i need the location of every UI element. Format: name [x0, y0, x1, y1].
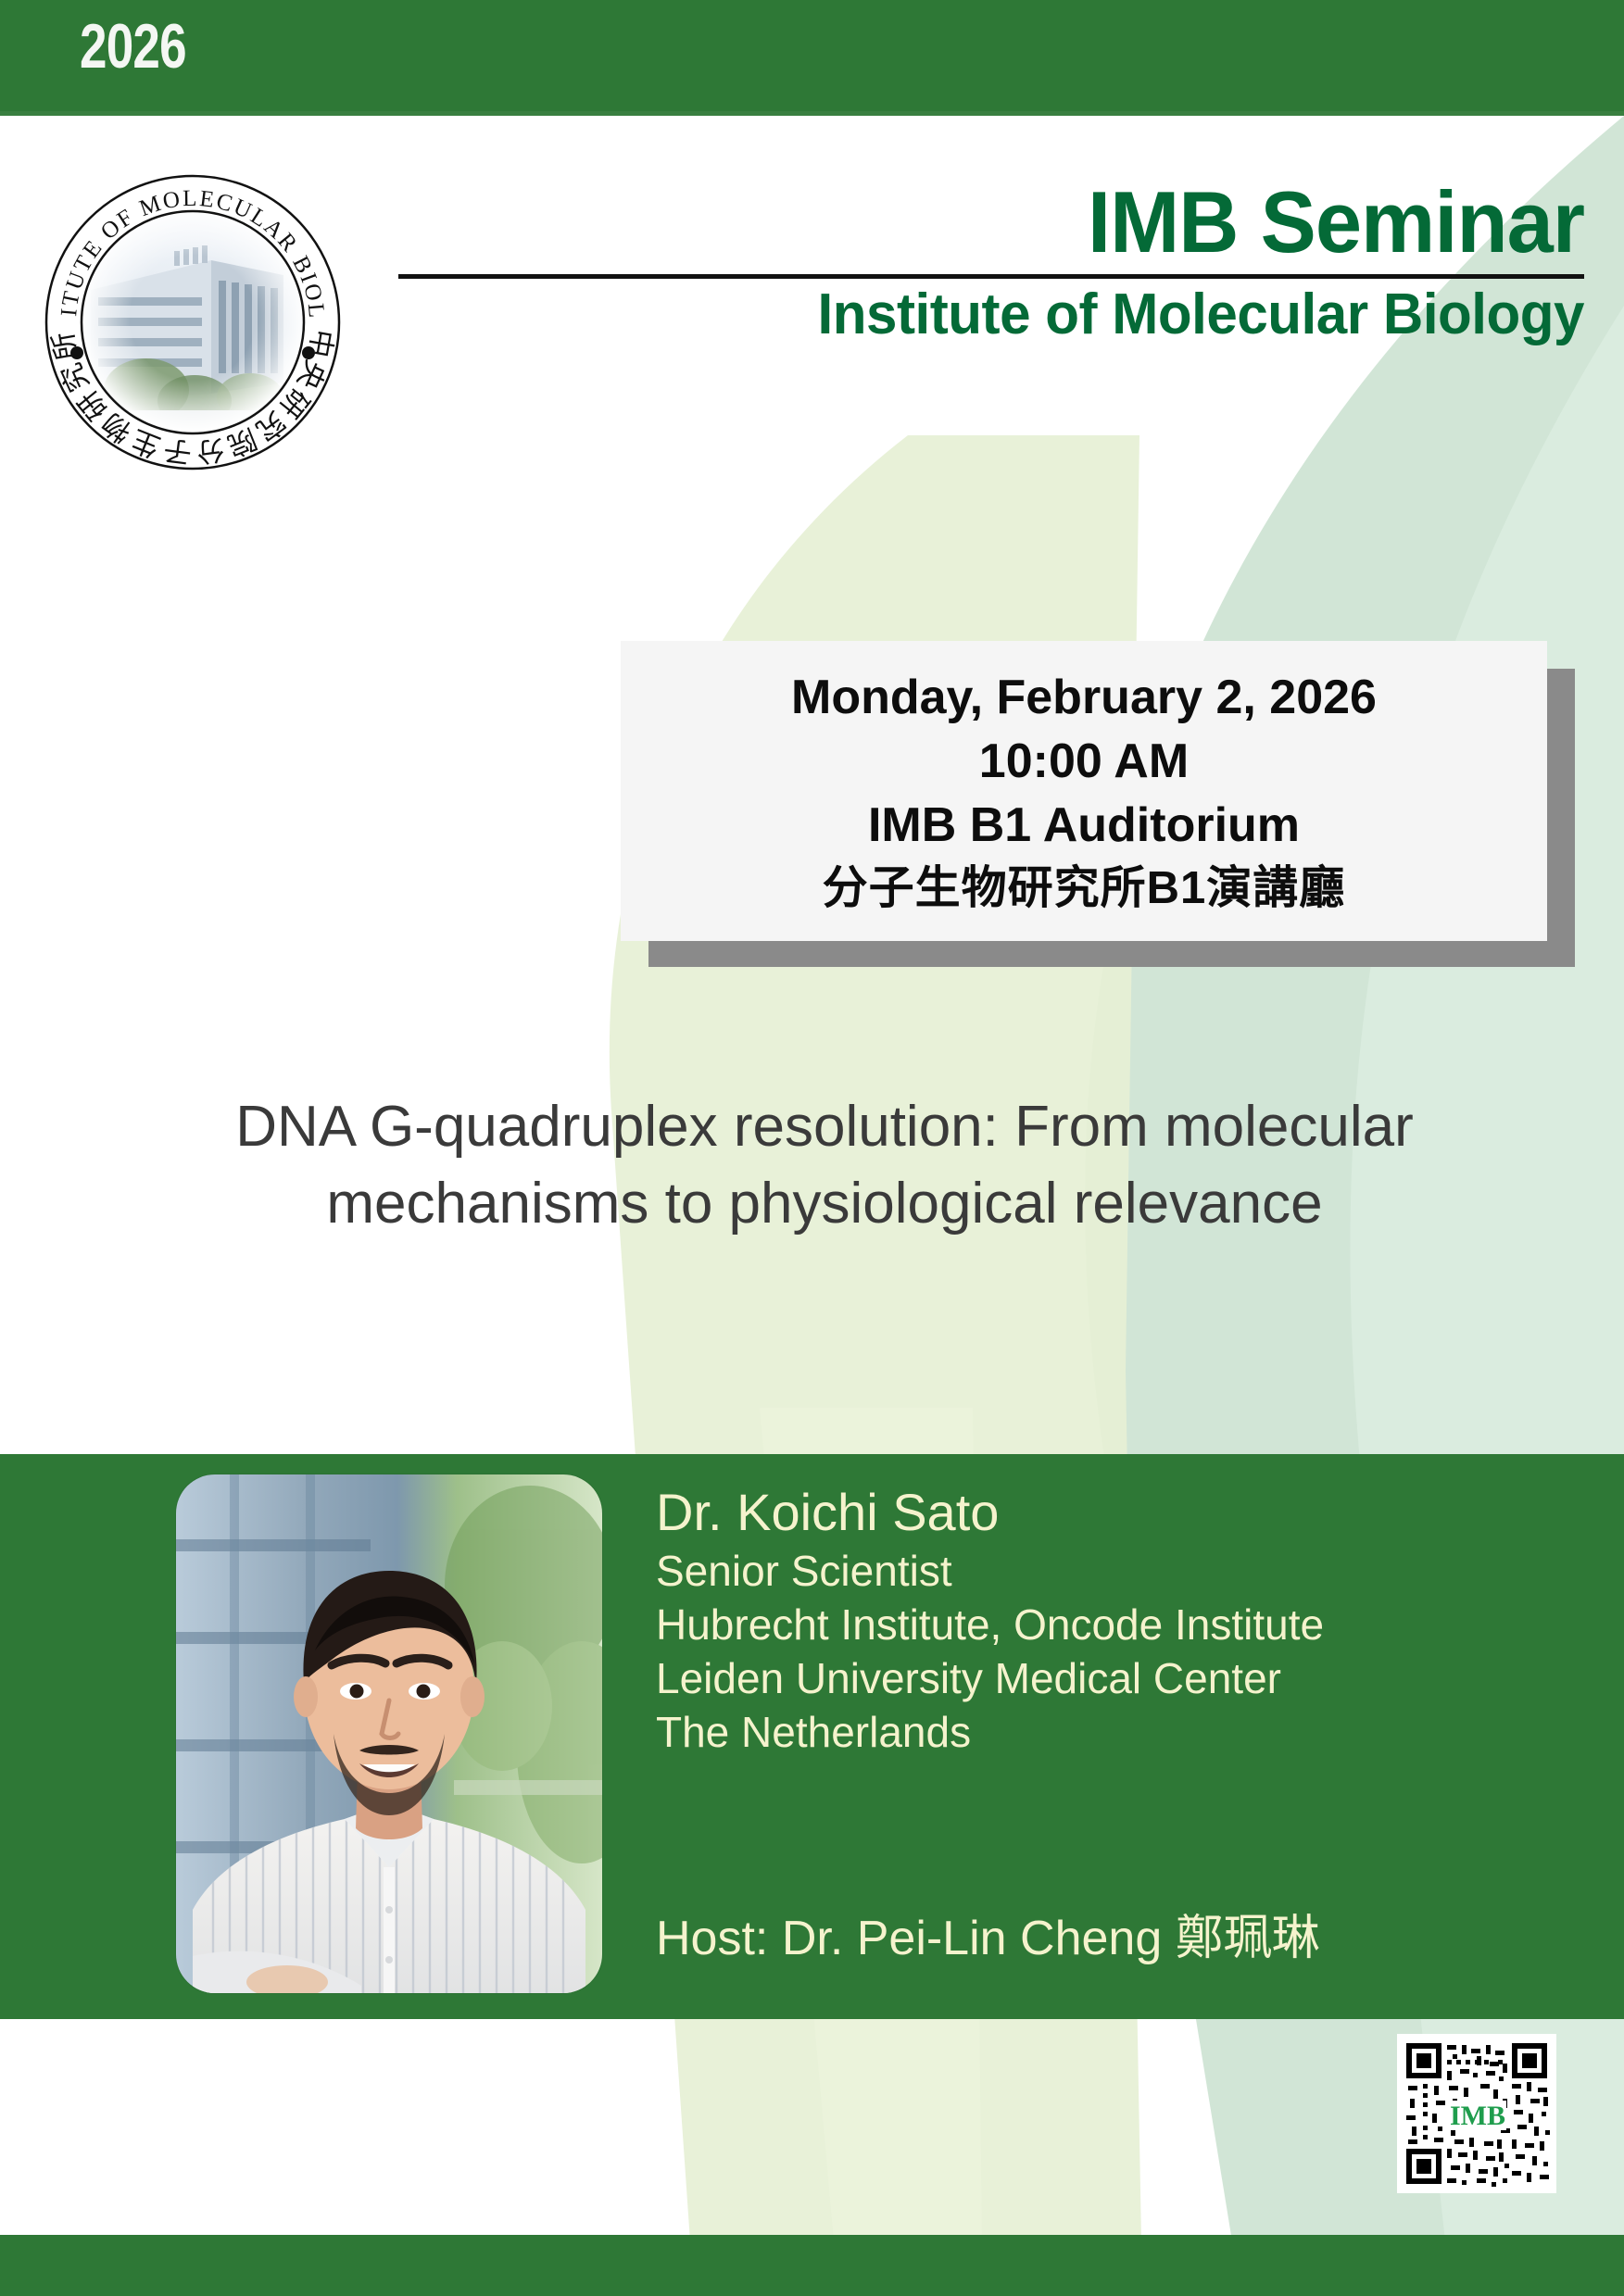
- seal-building-photo: [83, 213, 302, 433]
- header-block: IMB Seminar Institute of Molecular Biolo…: [398, 176, 1584, 346]
- speaker-photo: [176, 1474, 602, 1993]
- speaker-country: The Netherlands: [656, 1706, 1582, 1760]
- year-label: 2026: [80, 15, 186, 78]
- page-title: IMB Seminar: [446, 176, 1584, 269]
- bottom-green-bar: [0, 2239, 1624, 2296]
- institute-logo: INSTITUTE OF MOLECULAR BIOLOGY 中央研究院分子生物…: [35, 171, 350, 477]
- seminar-poster: 2026: [0, 0, 1624, 2296]
- event-venue-zh: 分子生物研究所B1演講廳: [823, 858, 1346, 920]
- page-subtitle: Institute of Molecular Biology: [434, 282, 1584, 346]
- institute-seal-icon: INSTITUTE OF MOLECULAR BIOLOGY 中央研究院分子生物…: [35, 171, 350, 477]
- speaker-affiliation-1: Hubrecht Institute, Oncode Institute: [656, 1599, 1582, 1652]
- event-date: Monday, February 2, 2026: [791, 666, 1377, 730]
- speaker-name: Dr. Koichi Sato: [656, 1482, 1582, 1543]
- qr-center-label: IMB: [1450, 2101, 1505, 2131]
- talk-title: DNA G-quadruplex resolution: From molecu…: [185, 1088, 1464, 1242]
- qr-code-icon[interactable]: IMB: [1397, 2034, 1556, 2193]
- speaker-affiliation-2: Leiden University Medical Center: [656, 1652, 1582, 1706]
- top-green-bar: [0, 0, 1624, 111]
- host-line: Host: Dr. Pei-Lin Cheng 鄭珮琳: [656, 1910, 1320, 1967]
- speaker-details: Dr. Koichi Sato Senior Scientist Hubrech…: [656, 1482, 1582, 1760]
- event-time: 10:00 AM: [979, 730, 1189, 794]
- avatar: [176, 1474, 602, 1993]
- event-venue-en: IMB B1 Auditorium: [868, 794, 1300, 858]
- header-divider: [398, 274, 1584, 279]
- event-info-box: Monday, February 2, 2026 10:00 AM IMB B1…: [621, 641, 1547, 941]
- speaker-position: Senior Scientist: [656, 1545, 1582, 1599]
- qr-code[interactable]: IMB: [1397, 2034, 1556, 2193]
- top-bar-hairline: [0, 111, 1624, 116]
